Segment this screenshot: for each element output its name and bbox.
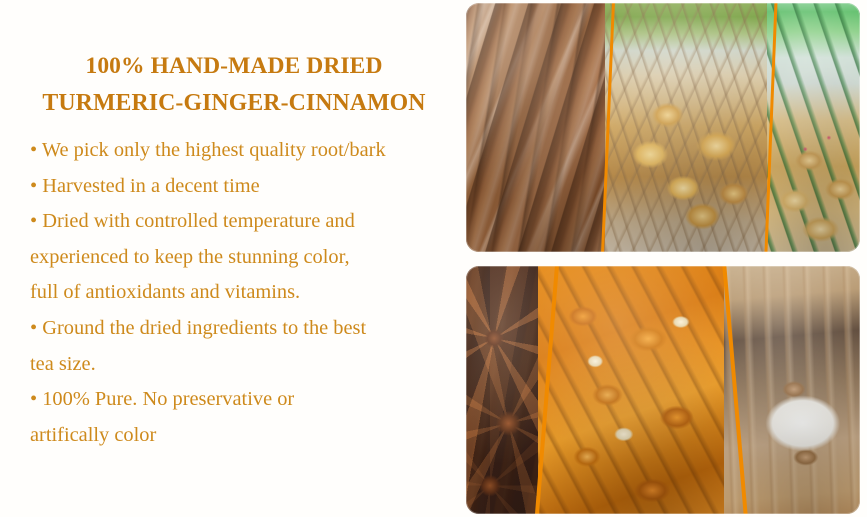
feature-bullet-list: • We pick only the highest quality root/…: [0, 133, 466, 453]
list-item: • We pick only the highest quality root/…: [0, 133, 466, 169]
product-collage-bottom: [466, 266, 860, 514]
cropped-caption-strip: dried herbs: [0, 511, 250, 517]
list-item: • Dried with controlled temperature and: [0, 204, 466, 240]
fresh-turmeric-photo: [605, 3, 772, 252]
page-title: 100% HAND-MADE DRIED TURMERIC-GINGER-CIN…: [8, 48, 460, 122]
cinnamon-bark-photo: [466, 3, 612, 252]
dried-turmeric-chips-photo: [538, 266, 734, 514]
list-item: artifically color: [0, 418, 466, 454]
list-item: full of antioxidants and vitamins.: [0, 275, 466, 311]
text-column: 100% HAND-MADE DRIED TURMERIC-GINGER-CIN…: [0, 0, 466, 517]
collage-image-turmeric-chips: [538, 266, 734, 514]
cropped-caption-text: dried herbs: [2, 511, 74, 516]
list-item: • Harvested in a decent time: [0, 169, 466, 205]
promo-slide: 100% HAND-MADE DRIED TURMERIC-GINGER-CIN…: [0, 0, 867, 517]
list-item: • Ground the dried ingredients to the be…: [0, 311, 466, 347]
fresh-ginger-photo: [767, 3, 860, 252]
list-item: tea size.: [0, 347, 466, 383]
headline-line-2: TURMERIC-GINGER-CINNAMON: [8, 85, 460, 122]
collage-image-ginger-fresh: [767, 3, 860, 252]
list-item: • 100% Pure. No preservative or: [0, 382, 466, 418]
product-collage-top: [466, 3, 860, 252]
collage-image-cinnamon-bark: [466, 3, 612, 252]
collage-image-turmeric-root: [605, 3, 772, 252]
headline-line-1: 100% HAND-MADE DRIED: [8, 48, 460, 85]
list-item: experienced to keep the stunning color,: [0, 240, 466, 276]
